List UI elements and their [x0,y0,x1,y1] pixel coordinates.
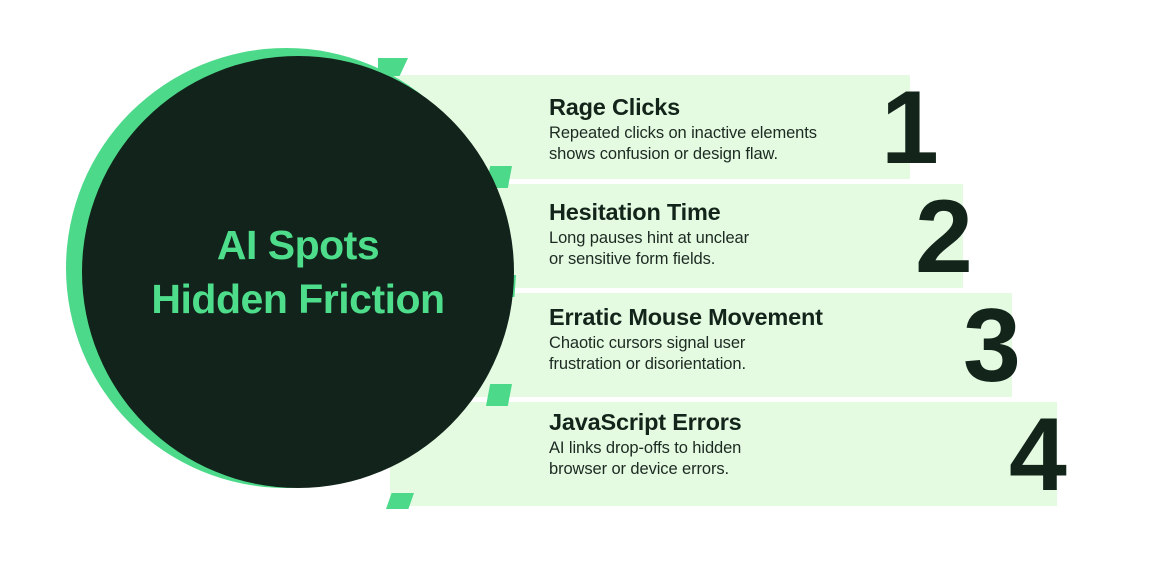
list-item-text: Erratic Mouse Movement Chaotic cursors s… [549,302,823,375]
list-item-title: Hesitation Time [549,197,749,227]
list-item-number: 1 [881,76,937,180]
list-item-description: Long pauses hint at unclear or sensitive… [549,228,749,270]
list-item-text: Hesitation Time Long pauses hint at uncl… [549,197,749,270]
list-item-title: Rage Clicks [549,92,817,122]
list-item-number: 2 [915,185,971,289]
infographic-canvas: Rage Clicks Repeated clicks on inactive … [0,0,1161,576]
list-item-title: JavaScript Errors [549,407,742,437]
list-item-title: Erratic Mouse Movement [549,302,823,332]
list-item-description: Repeated clicks on inactive elements sho… [549,123,817,165]
list-item-number: 3 [963,294,1019,398]
list-item-text: Rage Clicks Repeated clicks on inactive … [549,92,817,165]
list-item-description: Chaotic cursors signal user frustration … [549,333,823,375]
list-item-description: AI links drop-offs to hidden browser or … [549,438,742,480]
center-title-line-2: Hidden Friction [151,272,444,326]
center-circle-label: AI Spots Hidden Friction [82,56,514,488]
center-title-line-1: AI Spots [217,218,379,272]
list-item-text: JavaScript Errors AI links drop-offs to … [549,407,742,480]
list-item-number: 4 [1009,403,1065,507]
